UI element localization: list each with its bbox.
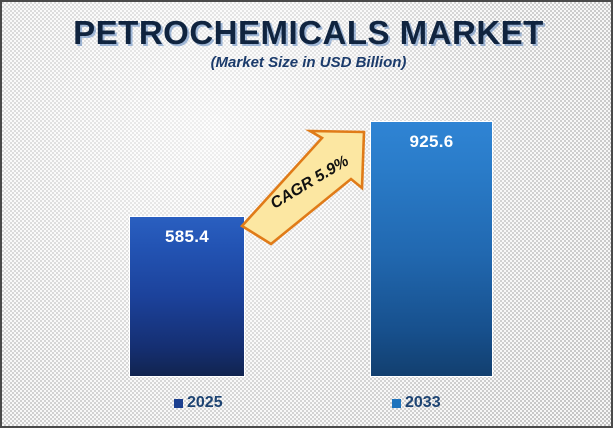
legend-label-2033: 2033 [405,394,441,412]
legend-item-2025[interactable]: 2025 [174,394,223,412]
bar-2025[interactable]: 585.4 [129,216,245,377]
bar-value-2025: 585.4 [130,227,244,247]
bar-value-2033: 925.6 [371,132,492,152]
legend-label-2025: 2025 [187,394,223,412]
legend-item-2033[interactable]: 2033 [392,394,441,412]
bar-2033[interactable]: 925.6 [370,121,493,377]
plot-area: 585.4 925.6 CAGR 5.9% [2,2,613,428]
legend: 2025 2033 [2,394,613,418]
petrochemicals-market-chart: PETROCHEMICALS MARKET (Market Size in US… [0,0,613,428]
legend-swatch-icon-2025 [174,399,183,408]
legend-swatch-icon-2033 [392,399,401,408]
